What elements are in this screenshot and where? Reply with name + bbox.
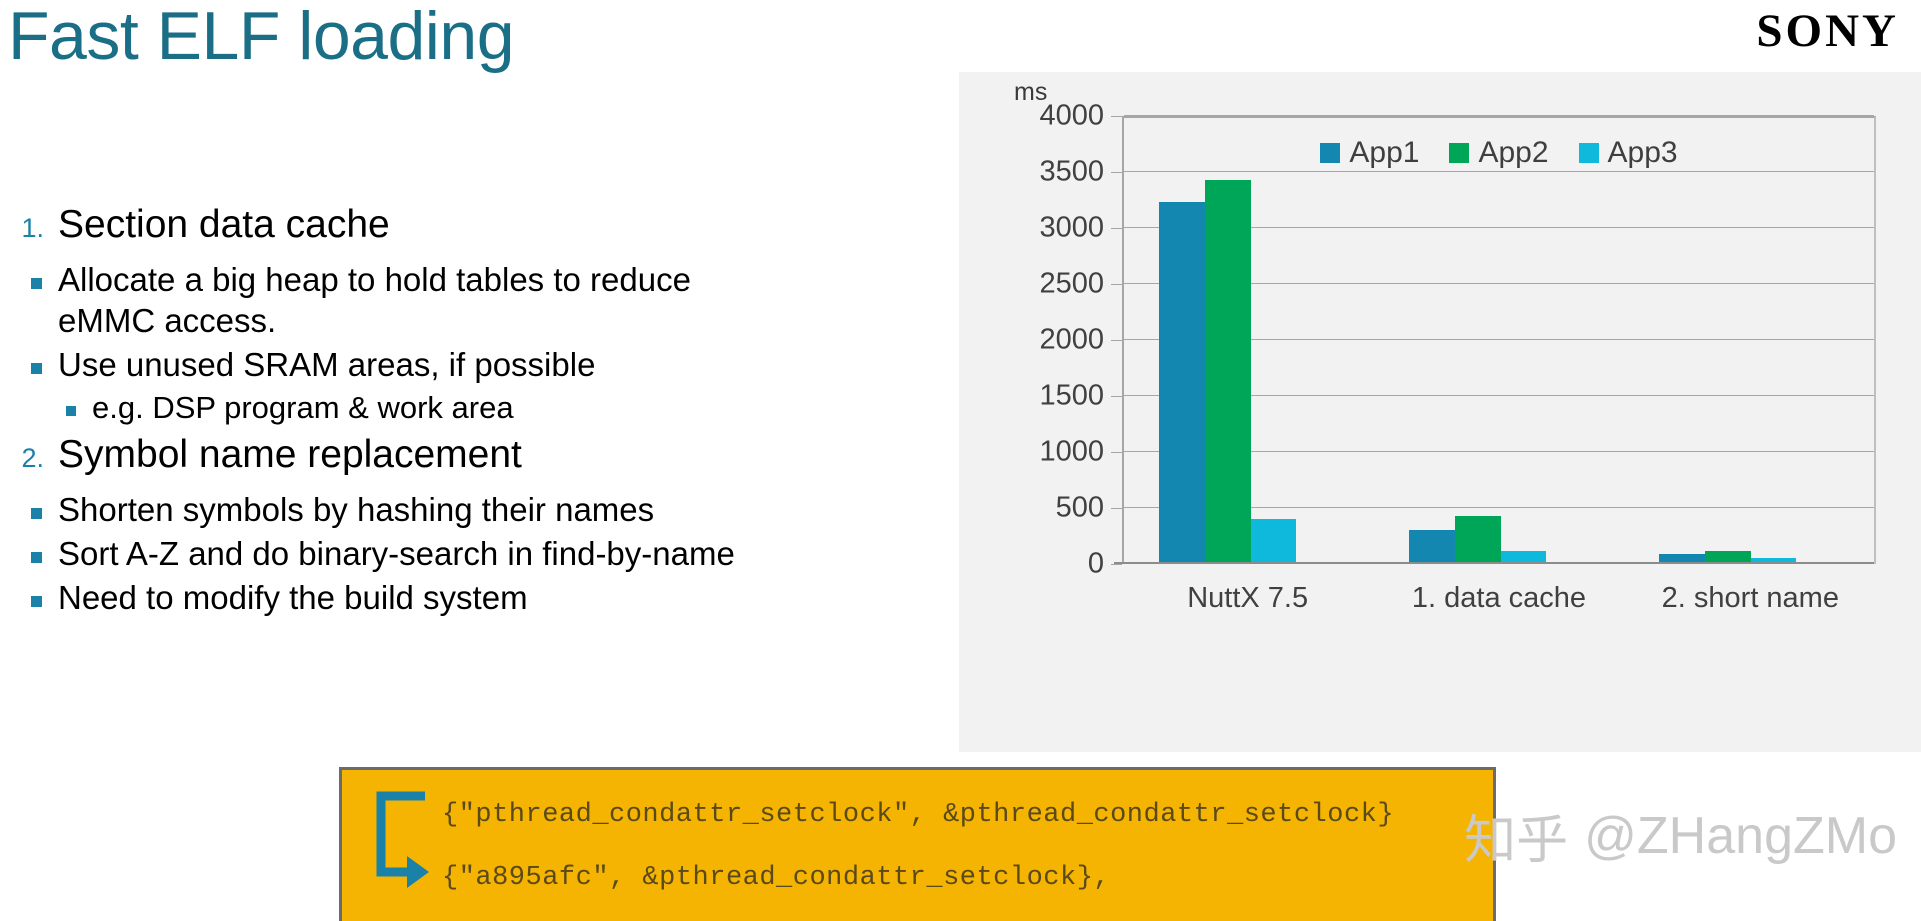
list-item-label: Shorten symbols by hashing their names [58, 490, 778, 531]
list-item: Use unused SRAM areas, if possible [0, 345, 960, 386]
x-axis-tick-label: 2. short name [1625, 582, 1876, 615]
bar-app2-1[interactable] [1205, 180, 1251, 564]
list-item-label: Allocate a big heap to hold tables to re… [58, 260, 778, 342]
list-item: e.g. DSP program & work area [0, 389, 960, 427]
y-axis-tick-label: 1000 [984, 436, 1104, 469]
x-axis-tick-label: NuttX 7.5 [1122, 582, 1373, 615]
y-axis-tickmark [1111, 340, 1122, 341]
x-axis-line [1114, 562, 1874, 564]
list-item-label: Sort A-Z and do binary-search in find-by… [58, 534, 778, 575]
watermark: 知乎 @ZHangZMo [1464, 798, 1897, 873]
y-axis-tickmark [1111, 172, 1122, 173]
bar-chart: ms 05001000150020002500300035004000 App1… [959, 72, 1921, 752]
y-axis-labels: 05001000150020002500300035004000 [984, 116, 1104, 564]
y-axis-tick-label: 500 [984, 492, 1104, 525]
list-item: Allocate a big heap to hold tables to re… [0, 260, 960, 342]
bent-arrow-icon [365, 786, 431, 896]
list-item-label: Use unused SRAM areas, if possible [58, 345, 778, 386]
y-axis-tickmark [1111, 564, 1122, 565]
y-axis-tickmark [1111, 396, 1122, 397]
y-axis-tick-label: 0 [984, 548, 1104, 581]
x-axis-labels: NuttX 7.51. data cache2. short name [1122, 582, 1876, 615]
bar-group-2 [1409, 116, 1547, 564]
square-bullet-icon [0, 389, 92, 416]
plot-area: App1App2App3 [1122, 116, 1876, 564]
y-axis-tickmark [1111, 228, 1122, 229]
x-axis-tick-label: 1. data cache [1373, 582, 1624, 615]
y-axis-tick-label: 3000 [984, 212, 1104, 245]
bar-app1-1[interactable] [1159, 202, 1205, 564]
bar-app1-2[interactable] [1409, 530, 1455, 564]
code-callout-box: {"pthread_condattr_setclock", &pthread_c… [339, 767, 1496, 921]
bar-app3-1[interactable] [1251, 519, 1297, 564]
square-bullet-icon [0, 534, 58, 563]
y-axis-tickmark [1111, 116, 1122, 117]
bar-app2-2[interactable] [1455, 516, 1501, 564]
y-axis-tick-label: 2000 [984, 324, 1104, 357]
list-item-label: Section data cache [58, 200, 390, 248]
list-number: 1. [0, 200, 58, 256]
square-bullet-icon [0, 578, 58, 607]
y-axis-tickmark [1111, 508, 1122, 509]
y-axis-tick-label: 4000 [984, 100, 1104, 133]
list-item: Need to modify the build system [0, 578, 960, 619]
y-axis-tick-label: 1500 [984, 380, 1104, 413]
list-item: Shorten symbols by hashing their names [0, 490, 960, 531]
list-item-label: Symbol name replacement [58, 430, 522, 478]
list-item: Sort A-Z and do binary-search in find-by… [0, 534, 960, 575]
square-bullet-icon [0, 260, 58, 289]
list-item-label: e.g. DSP program & work area [92, 389, 514, 427]
list-item-label: Need to modify the build system [58, 578, 778, 619]
list-number: 2. [0, 430, 58, 486]
bar-group-3 [1659, 116, 1797, 564]
bars-layer [1124, 116, 1874, 564]
code-line-original: {"pthread_condattr_setclock", &pthread_c… [442, 800, 1394, 830]
square-bullet-icon [0, 345, 58, 374]
code-line-hashed: {"a895afc", &pthread_condattr_setclock}, [442, 863, 1110, 893]
list-item: 1. Section data cache [0, 200, 960, 256]
outline-list: 1. Section data cache Allocate a big hea… [0, 200, 960, 622]
y-axis-tick-label: 3500 [984, 156, 1104, 189]
watermark-handle: @ZHangZMo [1584, 806, 1897, 866]
page-title: Fast ELF loading [8, 2, 514, 70]
bar-group-1 [1159, 116, 1297, 564]
y-axis-tick-label: 2500 [984, 268, 1104, 301]
list-item: 2. Symbol name replacement [0, 430, 960, 486]
y-axis-tickmark [1111, 452, 1122, 453]
square-bullet-icon [0, 490, 58, 519]
sony-logo: SONY [1756, 4, 1899, 58]
y-axis-tickmark [1111, 284, 1122, 285]
